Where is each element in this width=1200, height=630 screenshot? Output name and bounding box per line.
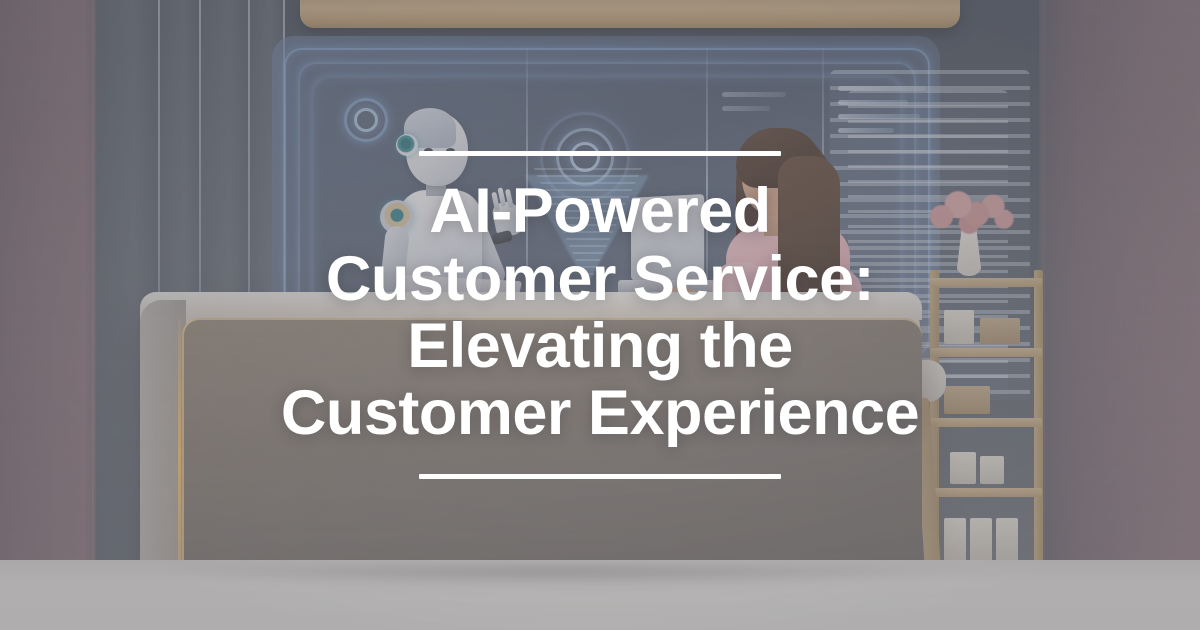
page-title: AI-Powered Customer Service: Elevating t… xyxy=(281,178,919,448)
hero-banner: AI-Powered Customer Service: Elevating t… xyxy=(0,0,1200,630)
title-line-3: Elevating the xyxy=(281,313,919,380)
title-overlay: AI-Powered Customer Service: Elevating t… xyxy=(0,0,1200,630)
divider-rule-top xyxy=(419,151,781,156)
title-line-2: Customer Service: xyxy=(281,246,919,313)
title-line-4: Customer Experience xyxy=(281,380,919,447)
title-line-1: AI-Powered xyxy=(281,178,919,245)
divider-rule-bottom xyxy=(419,474,781,479)
